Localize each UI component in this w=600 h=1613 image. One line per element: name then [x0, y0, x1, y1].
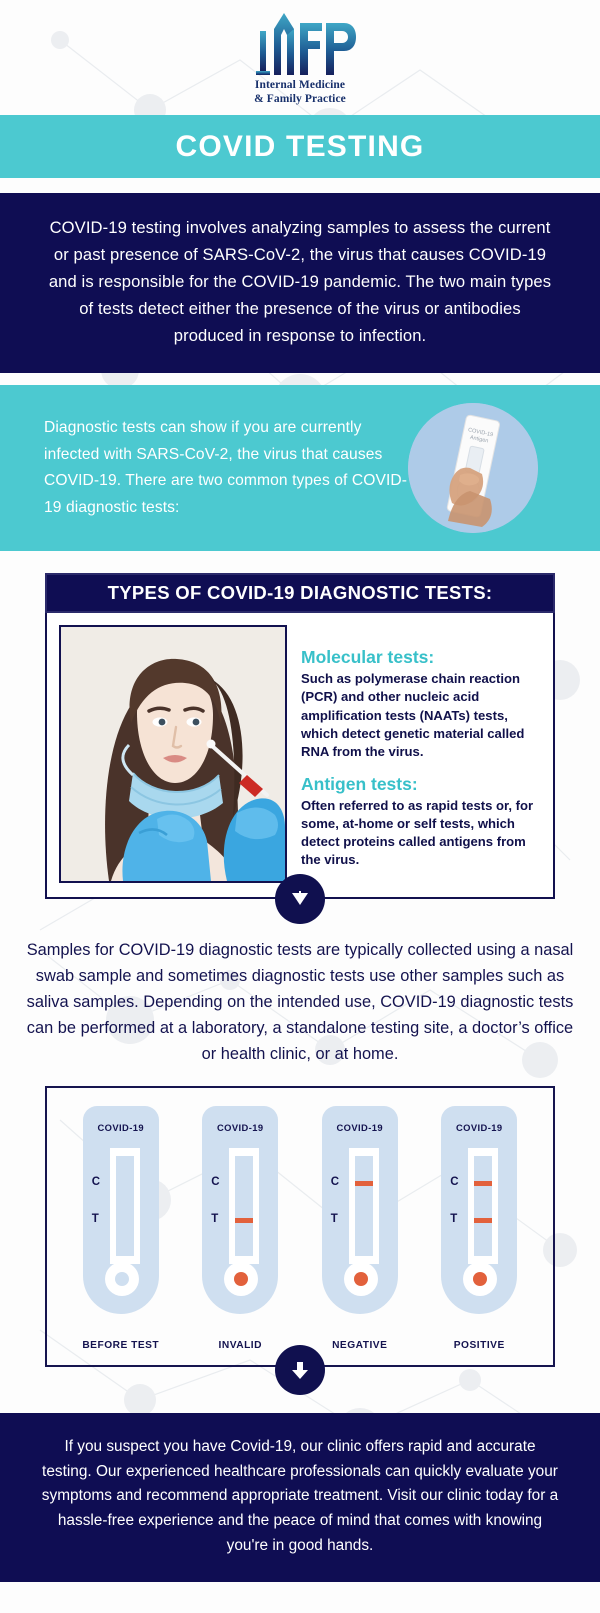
cassette-body: COVID-19 C T — [83, 1106, 159, 1314]
down-arrow-icon — [275, 874, 325, 924]
logo-subtitle-line1: Internal Medicine — [255, 79, 345, 91]
test-line-label: T — [211, 1213, 218, 1225]
types-text-gap — [301, 761, 541, 774]
logo-subtitle-line2: & Family Practice — [254, 93, 346, 105]
samples-section: Samples for COVID-19 diagnostic tests ar… — [0, 924, 600, 1078]
test-line-label: T — [92, 1213, 99, 1225]
types-of-tests-section: TYPES OF COVID-19 DIAGNOSTIC TESTS: — [0, 551, 600, 899]
molecular-tests-heading: Molecular tests: — [301, 647, 541, 668]
down-arrow-icon — [275, 1345, 325, 1395]
cassette-window — [229, 1148, 259, 1264]
test-line-label: T — [331, 1213, 338, 1225]
antigen-test-kit-photo: COVID-19 Antigen — [408, 403, 538, 533]
sample-well-dot — [234, 1272, 248, 1286]
sample-well-dot — [115, 1272, 129, 1286]
cassette-positive: COVID-19 C T POSITIVE — [427, 1106, 531, 1351]
cassette-window — [468, 1148, 498, 1264]
cassette-window — [349, 1148, 379, 1264]
intro-section: COVID-19 testing involves analyzing samp… — [0, 193, 600, 373]
test-result-chart: COVID-19 C T BEFORE TEST COVID-19 C T — [45, 1086, 555, 1367]
intro-paragraph: COVID-19 testing involves analyzing samp… — [46, 215, 554, 349]
cassette-body: COVID-19 C T — [441, 1106, 517, 1314]
samples-paragraph: Samples for COVID-19 diagnostic tests ar… — [26, 938, 574, 1068]
sample-well-dot — [354, 1272, 368, 1286]
cassette-window-inner — [235, 1156, 253, 1256]
cassette-brand-label: COVID-19 — [83, 1122, 159, 1133]
cassette-window-inner — [474, 1156, 492, 1256]
cassette-before-test: COVID-19 C T BEFORE TEST — [69, 1106, 173, 1351]
sample-well — [224, 1262, 258, 1296]
diagnostic-section: Diagnostic tests can show if you are cur… — [0, 385, 600, 551]
types-header-title: TYPES OF COVID-19 DIAGNOSTIC TESTS: — [108, 582, 493, 604]
cassette-window-inner — [355, 1156, 373, 1256]
test-line-band — [474, 1218, 492, 1223]
logo: Internal Medicine & Family Practice — [240, 9, 360, 107]
control-line-band — [474, 1181, 492, 1186]
swab-photo-illustration — [61, 627, 285, 881]
control-line-label: C — [211, 1176, 219, 1188]
imfp-building-logo-icon — [240, 9, 360, 75]
cassette-negative: COVID-19 C T NEGATIVE — [308, 1106, 412, 1351]
diagnostic-paragraph: Diagnostic tests can show if you are cur… — [44, 415, 408, 522]
cassette-brand-label: COVID-19 — [441, 1122, 517, 1133]
infographic-page: Internal Medicine & Family Practice COVI… — [0, 0, 600, 1613]
sample-well — [344, 1262, 378, 1296]
cassette-window — [110, 1148, 140, 1264]
cassette-brand-label: COVID-19 — [322, 1122, 398, 1133]
antigen-tests-body: Often referred to as rapid tests or, for… — [301, 797, 541, 869]
sample-well — [105, 1262, 139, 1296]
sample-well — [463, 1262, 497, 1296]
kit-photo-illustration: COVID-19 Antigen — [408, 403, 538, 533]
types-text-column: Molecular tests: Such as polymerase chai… — [301, 625, 541, 883]
cassette-brand-label: COVID-19 — [202, 1122, 278, 1133]
spacer-1 — [0, 178, 600, 193]
control-line-label: C — [450, 1176, 458, 1188]
spacer-2 — [0, 373, 600, 385]
control-line-label: C — [92, 1176, 100, 1188]
control-line-label: C — [331, 1176, 339, 1188]
arrow-divider-1 — [0, 874, 600, 924]
page-title: COVID TESTING — [176, 130, 425, 164]
sample-well-dot — [473, 1272, 487, 1286]
test-line-band — [235, 1218, 253, 1223]
arrow-divider-2 — [0, 1345, 600, 1395]
footer-paragraph: If you suspect you have Covid-19, our cl… — [40, 1435, 560, 1558]
cassette-invalid: COVID-19 C T INVALID — [188, 1106, 292, 1351]
cassette-body: COVID-19 C T — [202, 1106, 278, 1314]
types-header: TYPES OF COVID-19 DIAGNOSTIC TESTS: — [45, 573, 555, 613]
control-line-band — [355, 1181, 373, 1186]
logo-subtitle: Internal Medicine & Family Practice — [254, 78, 346, 107]
title-bar: COVID TESTING — [0, 115, 600, 178]
antigen-tests-heading: Antigen tests: — [301, 774, 541, 795]
footer-section: If you suspect you have Covid-19, our cl… — [0, 1413, 600, 1582]
nasal-swab-photo — [59, 625, 287, 883]
test-line-label: T — [450, 1213, 457, 1225]
types-body: Molecular tests: Such as polymerase chai… — [45, 613, 555, 899]
cassette-body: COVID-19 C T — [322, 1106, 398, 1314]
molecular-tests-body: Such as polymerase chain reaction (PCR) … — [301, 670, 541, 760]
cassette-window-inner — [116, 1156, 134, 1256]
header: Internal Medicine & Family Practice — [0, 0, 600, 115]
